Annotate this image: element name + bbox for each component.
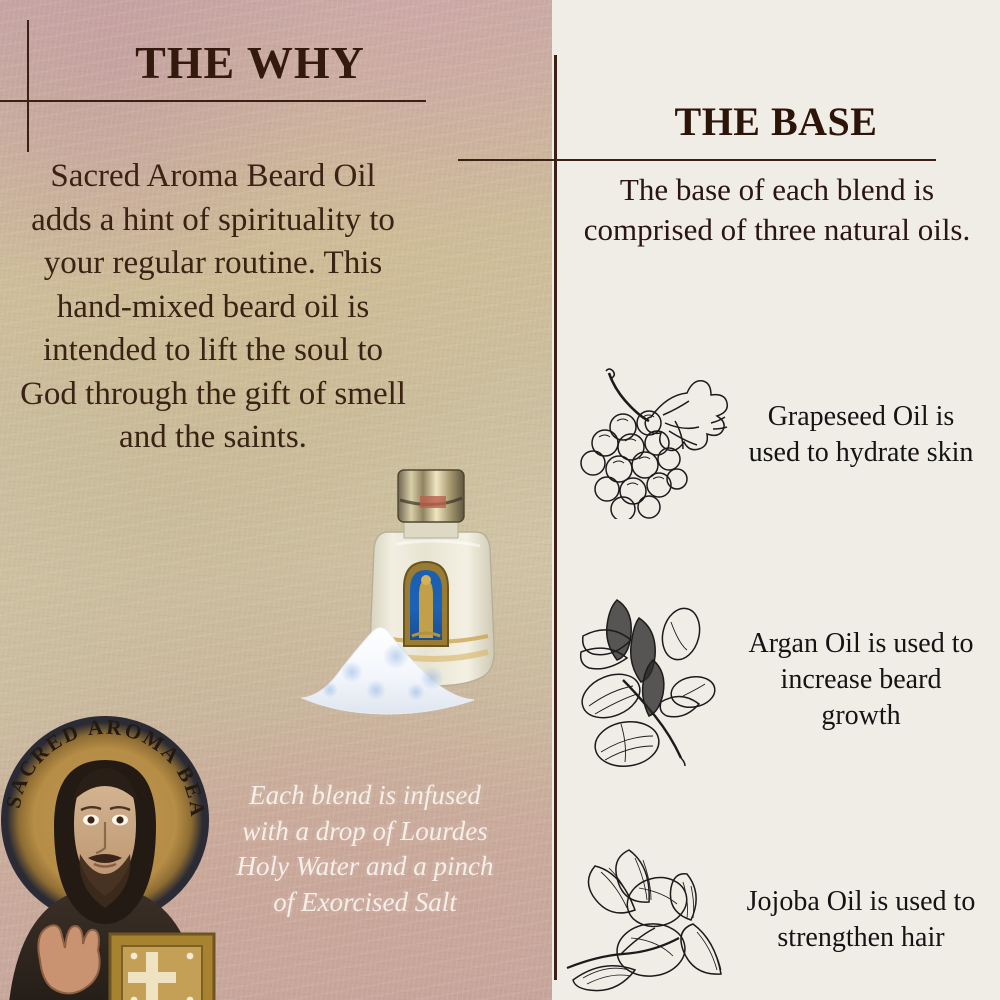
oil-label-argan: Argan Oil is used to increase beard grow… — [740, 626, 988, 733]
jojoba-branch-illustration-icon — [558, 840, 740, 1000]
the-base-title: THE BASE — [552, 98, 1000, 145]
argan-branch-illustration-icon — [558, 592, 740, 768]
grapes-illustration-icon — [558, 351, 740, 519]
oil-item-grapeseed: Grapeseed Oil is used to hydrate skin — [558, 345, 988, 525]
oil-item-argan: Argan Oil is used to increase beard grow… — [558, 590, 988, 770]
right-horizontal-rule — [458, 159, 936, 161]
lourdes-medallion-icon — [404, 562, 448, 646]
the-why-title: THE WHY — [0, 36, 500, 89]
oil-label-jojoba: Jojoba Oil is used to strengthen hair — [740, 884, 988, 956]
gospel-book-icon — [110, 934, 214, 1000]
left-horizontal-rule — [0, 100, 426, 102]
infusion-note: Each blend is infused with a drop of Lou… — [225, 778, 505, 921]
beard-oil-bottle-icon — [300, 440, 560, 760]
poster-canvas: THE WHY Sacred Aroma Beard Oil adds a hi… — [0, 0, 1000, 1000]
blessing-hand-icon — [38, 925, 99, 993]
the-why-body: Sacred Aroma Beard Oil adds a hint of sp… — [18, 155, 408, 460]
brand-badge: SACRED AROMA BEARD OIL — [0, 612, 218, 1000]
oil-label-grapeseed: Grapeseed Oil is used to hydrate skin — [740, 399, 988, 471]
the-base-intro: The base of each blend is comprised of t… — [582, 170, 972, 251]
product-photo — [300, 440, 560, 760]
oil-item-jojoba: Jojoba Oil is used to strengthen hair — [558, 830, 988, 1000]
